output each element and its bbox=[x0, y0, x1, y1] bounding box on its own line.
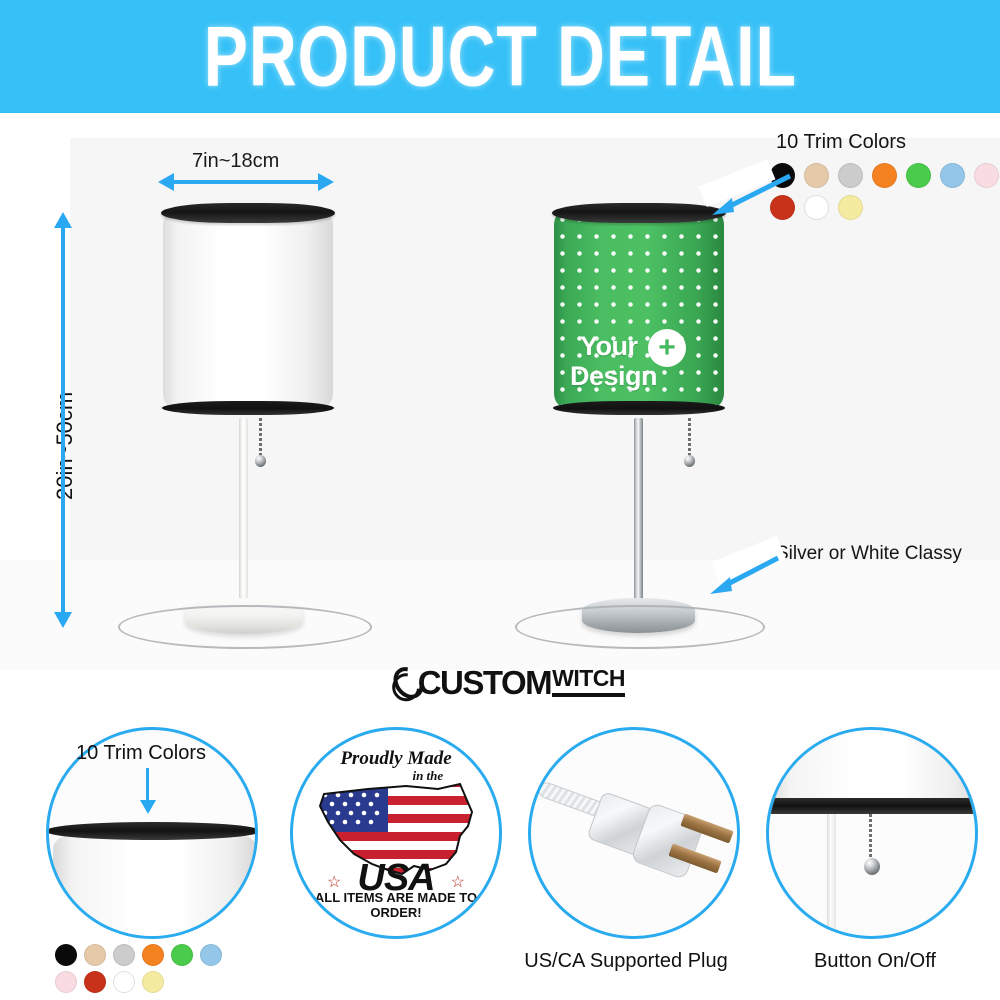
swatch-bottom-yellow[interactable] bbox=[142, 971, 164, 993]
usa-badge-subtitle: ALL ITEMS ARE MADE TO ORDER! bbox=[293, 890, 499, 920]
logo-underline bbox=[552, 693, 625, 697]
swatch-bottom-pink[interactable] bbox=[55, 971, 77, 993]
height-dimension-label: 20in~50cm bbox=[52, 392, 78, 500]
width-dimension-label: 7in~18cm bbox=[192, 150, 279, 173]
feature-switch-label: Button On/Off bbox=[790, 950, 960, 973]
swatch-bottom-tan[interactable] bbox=[84, 944, 106, 966]
swatch-bottom-gray[interactable] bbox=[113, 944, 135, 966]
lamp-pole-white bbox=[239, 418, 248, 610]
swatch-yellow[interactable] bbox=[838, 195, 863, 220]
base-finish-callout-label: Silver or White Classy bbox=[776, 543, 962, 565]
pull-chain-ball-closeup[interactable] bbox=[864, 858, 880, 875]
swatch-bottom-orange[interactable] bbox=[142, 944, 164, 966]
swatch-bottom-red[interactable] bbox=[84, 971, 106, 993]
lampshade-white-body bbox=[163, 211, 333, 407]
swatch-gray[interactable] bbox=[838, 163, 863, 188]
swatch-green[interactable] bbox=[906, 163, 931, 188]
trim-colors-callout-label: 10 Trim Colors bbox=[776, 131, 906, 154]
lampshade-green-trim-top bbox=[552, 203, 726, 223]
feature-trim-colors-label: 10 Trim Colors bbox=[76, 742, 206, 765]
power-cord-ring-white bbox=[118, 605, 372, 649]
swatch-tan[interactable] bbox=[804, 163, 829, 188]
swatch-bottom-green[interactable] bbox=[171, 944, 193, 966]
arrow-down-icon-trim-colors bbox=[139, 768, 161, 816]
feature-circle-switch bbox=[766, 727, 978, 939]
pull-chain-green[interactable] bbox=[688, 418, 691, 458]
logo-text-custom: CUSTOM bbox=[418, 664, 551, 702]
lampshade-green-trim-bottom bbox=[553, 401, 725, 415]
design-text-line2: Design bbox=[570, 361, 657, 392]
product-detail-page: PRODUCT DETAIL 7in~18cm 20in~50cm bbox=[0, 0, 1000, 1000]
lampshade-white-trim-bottom bbox=[162, 401, 334, 415]
feature-plug-label: US/CA Supported Plug bbox=[506, 950, 746, 973]
swatch-light-blue[interactable] bbox=[940, 163, 965, 188]
swatch-bottom-black[interactable] bbox=[55, 944, 77, 966]
pull-chain-white[interactable] bbox=[259, 418, 262, 458]
power-cord-ring-silver bbox=[515, 605, 765, 649]
usa-badge-line1: Proudly Made bbox=[293, 748, 499, 770]
page-title: PRODUCT DETAIL bbox=[203, 8, 796, 105]
arrow-icon-trim bbox=[706, 170, 798, 218]
lampshade-white-trim-top bbox=[161, 203, 335, 223]
your-design-artwork: Your + Design bbox=[562, 331, 716, 403]
swatch-pink[interactable] bbox=[974, 163, 999, 188]
trim-colors-swatch-list-top bbox=[770, 163, 1000, 227]
swatch-white[interactable] bbox=[804, 195, 829, 220]
swatch-orange[interactable] bbox=[872, 163, 897, 188]
logo-text-witch: WITCH bbox=[552, 667, 625, 690]
lampshade-green-body: Your + Design bbox=[554, 211, 724, 407]
trim-colors-swatch-list-bottom bbox=[55, 944, 255, 998]
lampshade-green: Your + Design bbox=[554, 203, 724, 415]
feature-circle-usa: Proudly Made in the bbox=[290, 727, 502, 939]
design-text-line1: Your bbox=[580, 331, 638, 362]
usa-star-right-icon: ☆ bbox=[451, 872, 465, 892]
pull-chain-closeup[interactable] bbox=[869, 814, 872, 862]
lamp-pole-silver bbox=[634, 418, 643, 610]
pull-chain-ball-white[interactable] bbox=[255, 455, 266, 467]
swatch-bottom-light-blue[interactable] bbox=[200, 944, 222, 966]
brand-logo: CUSTOM WITCH bbox=[395, 663, 625, 703]
lampshade-white bbox=[163, 203, 333, 415]
arrow-icon-base bbox=[702, 552, 788, 600]
swatch-bottom-white[interactable] bbox=[113, 971, 135, 993]
page-header-banner: PRODUCT DETAIL bbox=[0, 0, 1000, 113]
feature-circle-plug bbox=[528, 727, 740, 939]
pull-chain-ball-green[interactable] bbox=[684, 455, 695, 467]
